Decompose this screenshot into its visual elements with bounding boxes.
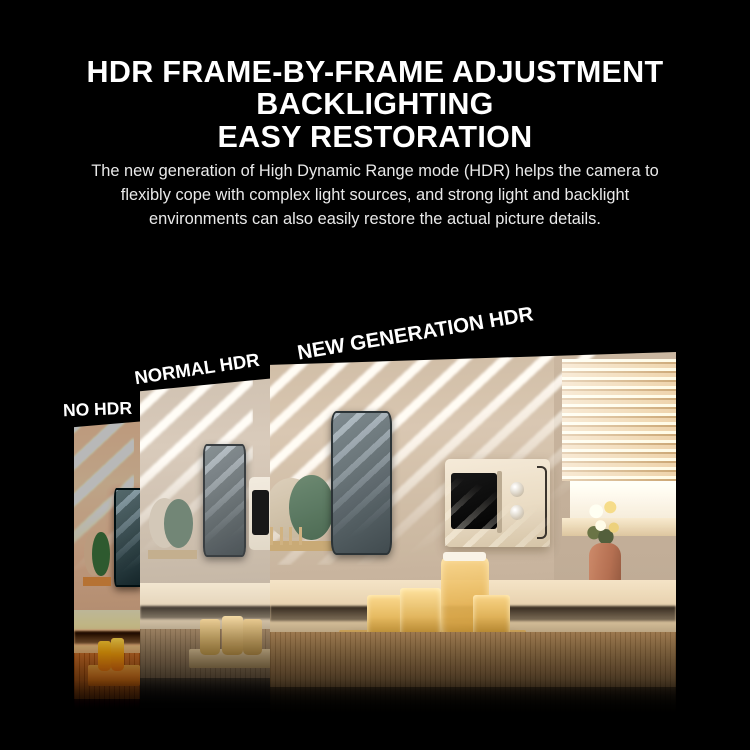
bottom-fade	[0, 680, 750, 750]
dish-rack	[148, 497, 197, 560]
scene-normal-hdr	[140, 378, 276, 708]
amber-glass	[243, 619, 262, 655]
tablet-icon	[114, 488, 142, 587]
dish-rack	[270, 473, 335, 554]
headline-line-3: EASY RESTORATION	[0, 121, 750, 153]
amber-glass	[98, 641, 110, 672]
headline-line-1: HDR FRAME-BY-FRAME ADJUSTMENT	[0, 56, 750, 88]
body-line-2: flexibly cope with complex light sources…	[28, 184, 722, 208]
body-line-1: The new generation of High Dynamic Range…	[28, 160, 722, 184]
amber-glass	[111, 638, 124, 672]
headline-block: HDR FRAME-BY-FRAME ADJUSTMENT BACKLIGHTI…	[0, 56, 750, 153]
tablet-icon	[203, 444, 246, 557]
amber-glass	[222, 616, 244, 656]
microwave	[445, 459, 551, 547]
body-line-3: environments can also easily restore the…	[28, 208, 722, 232]
panel-label-new-generation-hdr: NEW GENERATION HDR	[296, 302, 535, 365]
comparison-panel-new-generation-hdr	[270, 352, 676, 720]
scene-new-generation-hdr	[270, 352, 676, 720]
comparison-panel-normal-hdr	[140, 378, 276, 708]
promo-banner: HDR FRAME-BY-FRAME ADJUSTMENT BACKLIGHTI…	[0, 0, 750, 750]
pitcher-lid	[443, 552, 486, 562]
headline-line-2: BACKLIGHTING	[0, 88, 750, 120]
amber-glass	[200, 619, 220, 655]
plate	[289, 475, 333, 540]
counter-shadow	[140, 606, 276, 619]
tablet-icon	[331, 411, 392, 555]
plate	[92, 532, 109, 576]
panel-label-no-hdr: NO HDR	[63, 398, 133, 421]
dried-flowers	[583, 496, 628, 548]
dish-rack	[83, 531, 112, 586]
plate	[164, 499, 193, 548]
venetian-blinds	[562, 359, 676, 480]
body-copy-block: The new generation of High Dynamic Range…	[28, 160, 722, 231]
microwave-door	[252, 490, 269, 535]
